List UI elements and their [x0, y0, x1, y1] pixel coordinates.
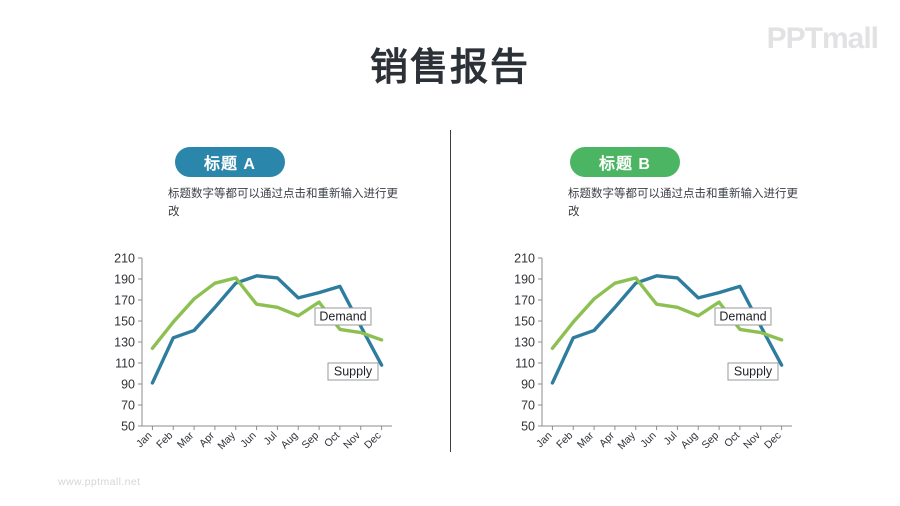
- y-tick-label: 170: [114, 294, 135, 308]
- y-tick-label: 90: [521, 378, 535, 392]
- x-tick-label: Jun: [638, 430, 659, 451]
- y-tick-label: 210: [114, 252, 135, 266]
- y-tick-label: 130: [514, 336, 535, 350]
- x-tick-label: Mar: [175, 429, 197, 451]
- x-tick-label: Sep: [700, 430, 722, 452]
- x-tick-label: Nov: [741, 429, 763, 451]
- series-label-supply[interactable]: Supply: [328, 363, 378, 380]
- panel-b: 标题 B 标题数字等都可以通过点击和重新输入进行更改 5070901101301…: [450, 0, 900, 506]
- chart-b[interactable]: 507090110130150170190210JanFebMarAprMayJ…: [500, 250, 800, 465]
- x-tick-label: Oct: [722, 430, 742, 450]
- x-tick-label: Feb: [154, 430, 175, 451]
- x-tick-label: Mar: [575, 429, 597, 451]
- panel-b-pill[interactable]: 标题 B: [570, 147, 680, 177]
- series-label-demand[interactable]: Demand: [315, 308, 371, 325]
- x-tick-label: Apr: [197, 429, 217, 449]
- panel-a-description: 标题数字等都可以通过点击和重新输入进行更改: [168, 186, 398, 222]
- x-tick-label: Feb: [554, 430, 575, 451]
- x-tick-label: Aug: [279, 430, 301, 452]
- chart-a[interactable]: 507090110130150170190210JanFebMarAprMayJ…: [100, 250, 400, 465]
- x-tick-label: Jan: [134, 430, 155, 451]
- y-tick-label: 190: [114, 273, 135, 287]
- chart-a-svg: 507090110130150170190210JanFebMarAprMayJ…: [100, 250, 400, 465]
- x-tick-label: Jul: [262, 430, 280, 448]
- x-tick-label: Dec: [362, 430, 384, 452]
- x-tick-label: May: [615, 429, 638, 452]
- x-tick-label: Apr: [597, 429, 617, 449]
- x-tick-label: Oct: [322, 430, 342, 450]
- x-tick-label: Jan: [534, 430, 555, 451]
- footer-watermark: www.pptmall.net: [58, 476, 140, 488]
- series-label-demand[interactable]: Demand: [715, 308, 771, 325]
- series-label-text: Demand: [719, 310, 766, 324]
- y-tick-label: 110: [515, 357, 535, 371]
- y-tick-label: 70: [521, 399, 535, 413]
- y-tick-label: 130: [114, 336, 135, 350]
- x-tick-label: Jun: [238, 430, 259, 451]
- y-tick-label: 110: [115, 357, 135, 371]
- series-label-text: Supply: [334, 365, 373, 379]
- chart-b-svg: 507090110130150170190210JanFebMarAprMayJ…: [500, 250, 800, 465]
- y-tick-label: 150: [514, 315, 535, 329]
- series-label-text: Demand: [319, 310, 366, 324]
- y-tick-label: 190: [514, 273, 535, 287]
- x-tick-label: Jul: [662, 430, 680, 448]
- y-tick-label: 150: [114, 315, 135, 329]
- x-tick-label: Sep: [300, 430, 322, 452]
- x-tick-label: Nov: [341, 429, 363, 451]
- panel-a: 标题 A 标题数字等都可以通过点击和重新输入进行更改 5070901101301…: [0, 0, 450, 506]
- slide-root: PPTmall 销售报告 标题 A 标题数字等都可以通过点击和重新输入进行更改 …: [0, 0, 900, 506]
- x-tick-label: Aug: [679, 430, 701, 452]
- y-tick-label: 210: [514, 252, 535, 266]
- y-tick-label: 170: [514, 294, 535, 308]
- panel-a-pill[interactable]: 标题 A: [175, 147, 285, 177]
- x-tick-label: May: [215, 429, 238, 452]
- y-tick-label: 50: [121, 420, 135, 434]
- panel-b-description: 标题数字等都可以通过点击和重新输入进行更改: [568, 186, 798, 222]
- series-label-text: Supply: [734, 365, 773, 379]
- series-label-supply[interactable]: Supply: [728, 363, 778, 380]
- x-tick-label: Dec: [762, 430, 784, 452]
- y-tick-label: 70: [121, 399, 135, 413]
- y-tick-label: 50: [521, 420, 535, 434]
- y-tick-label: 90: [121, 378, 135, 392]
